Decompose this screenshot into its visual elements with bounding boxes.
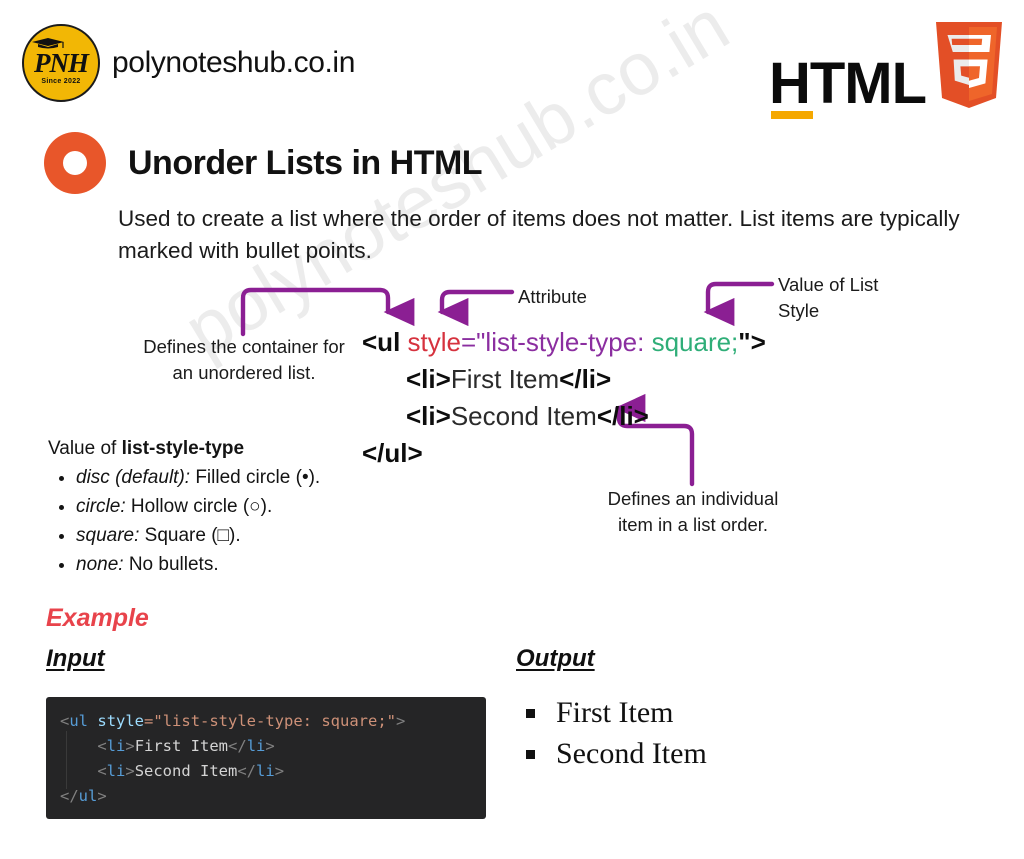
list-item: square: Square (□). [76,522,408,551]
values-list: disc (default): Filled circle (•). circl… [48,464,408,580]
logo-monogram: PNH [34,50,88,77]
html5-logo: HTML [769,22,1006,110]
code-ul-close-bracket: "> [738,327,766,357]
code-tag-li: li [256,762,275,780]
code-li2-text: Second Item [451,401,597,431]
logo-since-text: Since 2022 [41,78,80,85]
code-tag-li: li [107,762,126,780]
value-term: circle: [76,496,126,517]
value-desc: No bullets. [124,554,219,575]
label-attribute: Attribute [518,284,628,310]
code-string-value: ="list-style-type: square;" [144,712,396,730]
list-item: disc (default): Filled circle (•). [76,464,408,493]
code-bracket: < [97,737,106,755]
list-item: First Item [550,692,707,733]
code-bracket: < [97,762,106,780]
code-tag-ul: ul [69,712,88,730]
code-tag-li: li [247,737,266,755]
code-tag-ul: ul [79,787,98,805]
code-attr-style: style [97,712,144,730]
values-heading-code: list-style-type [122,438,244,459]
code-style-attr: style [408,327,461,357]
list-item: Second Item [550,733,707,774]
code-bracket: < [60,712,69,730]
code-li1-open: <li> [406,364,451,394]
code-bracket: > [125,762,134,780]
code-bracket: > [97,787,106,805]
arrow-value [708,284,772,312]
code-style-value: square; [652,327,739,357]
code-bracket: > [396,712,405,730]
code-tag-li: li [107,737,126,755]
ring-hole [63,151,87,175]
code-style-prop: ="list-style-type: [461,327,652,357]
orange-ring-icon [44,132,106,194]
pnh-logo: PNH Since 2022 [22,24,100,102]
value-term: none: [76,554,124,575]
values-heading-prefix: Value of [48,438,122,459]
code-snippet-annotated: <ul style="list-style-type: square;"> <l… [362,324,766,472]
code-bracket: > [265,737,274,755]
code-li1-text: First Item [451,364,559,394]
code-text: Second Item [135,762,238,780]
code-bracket: > [125,737,134,755]
code-bracket: > [275,762,284,780]
example-heading: Example [46,604,149,633]
html5-shield-icon [932,22,1006,108]
output-ul: First Item Second Item [516,692,707,775]
value-desc: Filled circle (•). [190,467,320,488]
label-container: Defines the container for an unordered l… [138,334,350,385]
output-label: Output [516,645,595,673]
code-bracket: </ [60,787,79,805]
output-render: First Item Second Item [516,692,707,775]
input-label: Input [46,645,105,673]
infographic-page: polynoteshub.co.in PNH Since 2022 polyno… [0,0,1024,859]
code-bracket: </ [237,762,256,780]
html5-wordmark: HTML [769,57,926,110]
code-space [88,712,97,730]
value-desc: Square (□). [139,525,240,546]
graduation-cap-icon [32,38,64,49]
list-item: none: No bullets. [76,551,408,580]
label-value-of-list-style: Value of List Style [778,272,908,323]
site-name: polynoteshub.co.in [112,46,355,80]
list-item: circle: Hollow circle (○). [76,493,408,522]
list-style-type-values: Value of list-style-type disc (default):… [48,438,408,580]
value-desc: Hollow circle (○). [126,496,273,517]
page-title-row: Unorder Lists in HTML [44,132,482,194]
html5-underline [771,111,813,119]
label-list-item: Defines an individual item in a list ord… [588,486,798,537]
code-ul-open: <ul [362,327,400,357]
page-title: Unorder Lists in HTML [128,144,482,183]
input-code-block: <ul style="list-style-type: square;"> <l… [46,697,486,819]
code-li2-open: <li> [406,401,451,431]
values-heading: Value of list-style-type [48,438,408,460]
value-term: square: [76,525,139,546]
code-text: First Item [135,737,228,755]
page-header: PNH Since 2022 polynoteshub.co.in HTML [0,0,1024,118]
code-li2-close: </li> [597,401,649,431]
indent-guide [66,731,67,789]
code-bracket: </ [228,737,247,755]
description-text: Used to create a list where the order of… [118,203,998,267]
brand-block: PNH Since 2022 polynoteshub.co.in [22,24,355,102]
html5-word-text: HTML [769,51,926,116]
value-term: disc (default): [76,467,190,488]
arrow-attribute [442,292,512,312]
code-li1-close: </li> [559,364,611,394]
